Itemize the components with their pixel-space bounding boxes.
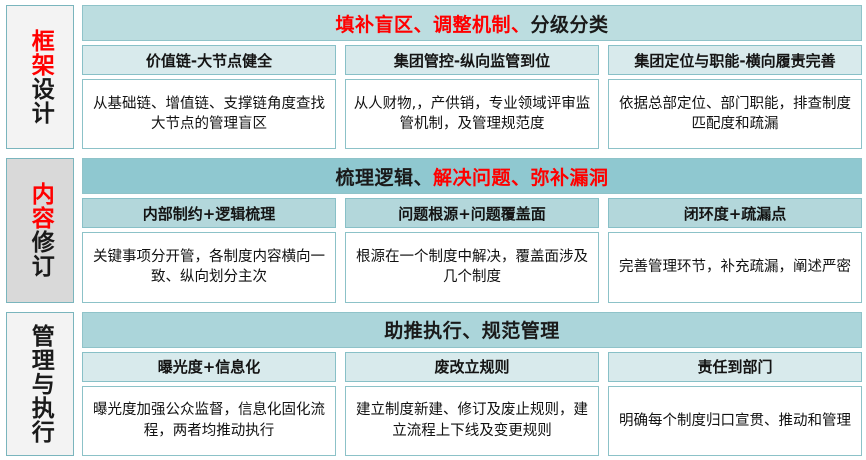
card-abolish-amend-establish: 废改立规则 建立制度新建、修订及废止规则，建立流程上下线及变更规则	[345, 352, 599, 456]
framework-diagram: 框架设计 填补盲区、调整机制、分级分类 价值链-大节点健全 从基础链、增值链、支…	[0, 0, 866, 460]
stage-label-dark: 管理与执行	[27, 324, 53, 444]
band-body-management-execution: 助推执行、规范管理 曝光度+信息化 曝光度加强公众监督，信息化固化流程，两者均推…	[82, 312, 862, 456]
headline-red-part: 解决问题、弥补漏洞	[433, 163, 609, 190]
band-body-content-revision: 梳理逻辑、解决问题、弥补漏洞 内部制约+逻辑梳理 关键事项分开管，各制度内容横向…	[82, 158, 862, 302]
card-title: 集团定位与职能-横向履责完善	[608, 45, 862, 75]
stage-label-text: 框架设计	[28, 29, 52, 125]
stage-label-content-revision: 内容修订	[6, 158, 74, 302]
card-text: 关键事项分开管，各制度内容横向一致、纵向划分主次	[82, 232, 336, 302]
card-text: 完善管理环节，补充疏漏，阐述严密	[608, 232, 862, 302]
band-headline-framework-design: 填补盲区、调整机制、分级分类	[82, 5, 862, 41]
stage-label-framework-design: 框架设计	[6, 5, 74, 149]
card-title: 责任到部门	[608, 352, 862, 382]
cards-row-content-revision: 内部制约+逻辑梳理 关键事项分开管，各制度内容横向一致、纵向划分主次 问题根源+…	[82, 198, 862, 302]
card-text: 根源在一个制度中解决，覆盖面涉及几个制度	[345, 232, 599, 302]
card-title: 内部制约+逻辑梳理	[82, 198, 336, 228]
card-text: 明确每个制度归口宣贯、推动和管理	[608, 386, 862, 456]
card-closed-loop: 闭环度+疏漏点 完善管理环节，补充疏漏，阐述严密	[608, 198, 862, 302]
band-framework-design: 框架设计 填补盲区、调整机制、分级分类 价值链-大节点健全 从基础链、增值链、支…	[6, 5, 862, 149]
card-title: 价值链-大节点健全	[82, 45, 336, 75]
card-text: 依据总部定位、部门职能，排查制度匹配度和疏漏	[608, 79, 862, 149]
card-title: 闭环度+疏漏点	[608, 198, 862, 228]
headline-dark-part: 分级分类	[531, 10, 609, 37]
card-title: 问题根源+问题覆盖面	[345, 198, 599, 228]
card-internal-constraint: 内部制约+逻辑梳理 关键事项分开管，各制度内容横向一致、纵向划分主次	[82, 198, 336, 302]
stage-label-dark: 修订	[27, 230, 53, 278]
card-title: 废改立规则	[345, 352, 599, 382]
card-text: 建立制度新建、修订及废止规则，建立流程上下线及变更规则	[345, 386, 599, 456]
card-text: 从基础链、增值链、支撑链角度查找大节点的管理盲区	[82, 79, 336, 149]
band-headline-content-revision: 梳理逻辑、解决问题、弥补漏洞	[82, 158, 862, 194]
card-exposure-informatization: 曝光度+信息化 曝光度加强公众监督，信息化固化流程，两者均推动执行	[82, 352, 336, 456]
card-group-control: 集团管控-纵向监管到位 从人财物,，产供销，专业领域评审监管机制，及管理规范度	[345, 45, 599, 149]
stage-label-management-execution: 管理与执行	[6, 312, 74, 456]
cards-row-framework-design: 价值链-大节点健全 从基础链、增值链、支撑链角度查找大节点的管理盲区 集团管控-…	[82, 45, 862, 149]
card-title: 曝光度+信息化	[82, 352, 336, 382]
headline-red-part: 填补盲区、调整机制、	[335, 10, 530, 37]
stage-label-text: 内容修订	[28, 182, 52, 278]
stage-label-red: 框架	[27, 29, 53, 77]
card-title: 集团管控-纵向监管到位	[345, 45, 599, 75]
stage-label-text: 管理与执行	[28, 324, 52, 444]
card-text: 曝光度加强公众监督，信息化固化流程，两者均推动执行	[82, 386, 336, 456]
headline-dark-part: 梳理逻辑、	[335, 163, 433, 190]
band-headline-management-execution: 助推执行、规范管理	[82, 312, 862, 348]
stage-label-red: 内容	[27, 182, 53, 230]
band-management-execution: 管理与执行 助推执行、规范管理 曝光度+信息化 曝光度加强公众监督，信息化固化流…	[6, 312, 862, 456]
card-group-positioning: 集团定位与职能-横向履责完善 依据总部定位、部门职能，排查制度匹配度和疏漏	[608, 45, 862, 149]
cards-row-management-execution: 曝光度+信息化 曝光度加强公众监督，信息化固化流程，两者均推动执行 废改立规则 …	[82, 352, 862, 456]
card-value-chain: 价值链-大节点健全 从基础链、增值链、支撑链角度查找大节点的管理盲区	[82, 45, 336, 149]
band-content-revision: 内容修订 梳理逻辑、解决问题、弥补漏洞 内部制约+逻辑梳理 关键事项分开管，各制…	[6, 158, 862, 302]
band-body-framework-design: 填补盲区、调整机制、分级分类 价值链-大节点健全 从基础链、增值链、支撑链角度查…	[82, 5, 862, 149]
card-text: 从人财物,，产供销，专业领域评审监管机制，及管理规范度	[345, 79, 599, 149]
card-problem-root: 问题根源+问题覆盖面 根源在一个制度中解决，覆盖面涉及几个制度	[345, 198, 599, 302]
headline-dark-part: 助推执行、规范管理	[384, 316, 560, 343]
card-responsibility-to-department: 责任到部门 明确每个制度归口宣贯、推动和管理	[608, 352, 862, 456]
stage-label-dark: 设计	[27, 77, 53, 125]
